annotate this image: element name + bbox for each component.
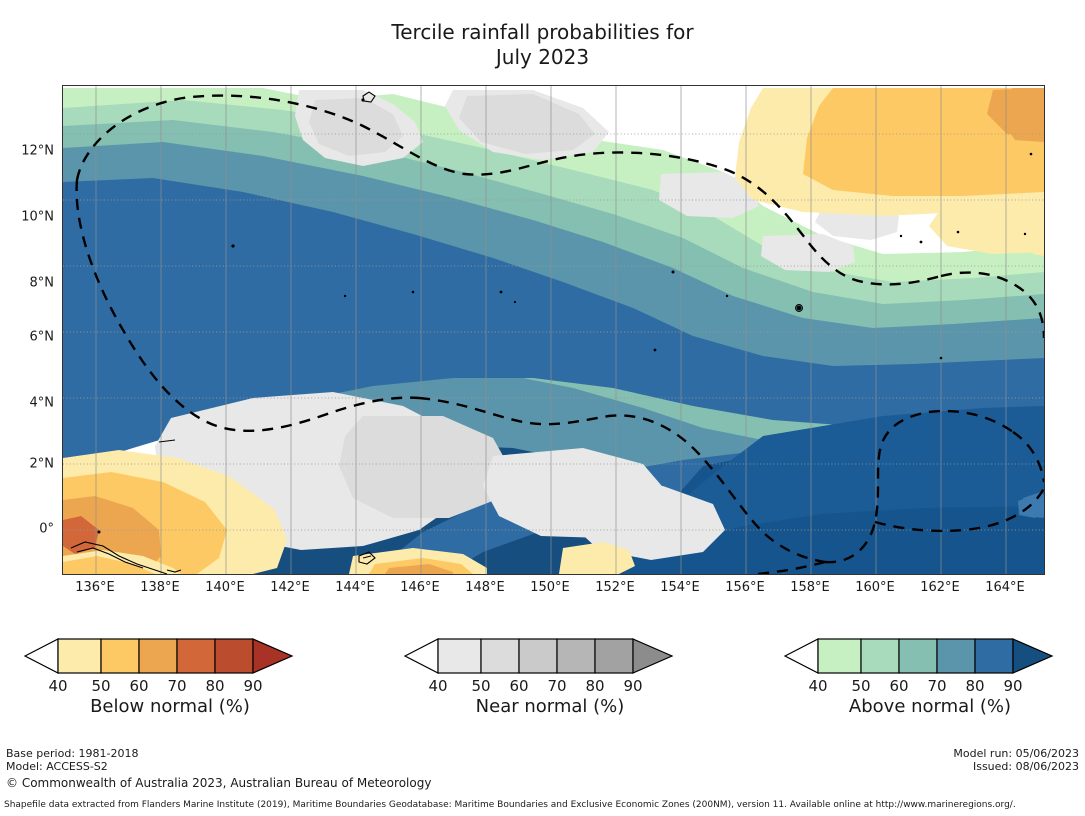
- x-tick-label-142e: 142°E: [270, 580, 310, 595]
- footer-issued: Issued: 08/06/2023: [953, 760, 1079, 773]
- x-tick-label-144e: 144°E: [335, 580, 375, 595]
- cbtick-80: 80: [205, 677, 224, 695]
- colorbar-below-normal-bar: [20, 636, 320, 676]
- footer-right: Model run: 05/06/2023 Issued: 08/06/2023: [953, 747, 1079, 773]
- colorbar-below-normal[interactable]: 40 50 60 70 80 90 Below normal (%): [20, 636, 320, 699]
- footer-model: Model: ACCESS-S2: [6, 760, 138, 773]
- x-tick-label-148e: 148°E: [465, 580, 505, 595]
- colorbar-over-arrow: [1013, 639, 1052, 673]
- colorbar-over-arrow: [253, 639, 292, 673]
- colorbar-below-normal-swatches: [20, 636, 320, 676]
- colorbar-near-normal-title: Near normal (%): [400, 696, 700, 717]
- cbtick-50: 50: [91, 677, 110, 695]
- x-tick-label-138e: 138°E: [140, 580, 180, 595]
- x-tick-label-162e: 162°E: [920, 580, 960, 595]
- map-axes[interactable]: [62, 85, 1045, 575]
- cbtick-40: 40: [808, 677, 827, 695]
- x-tick-label-164e: 164°E: [985, 580, 1025, 595]
- cbtick-70: 70: [927, 677, 946, 695]
- x-tick-label-158e: 158°E: [790, 580, 830, 595]
- footer-model-run: Model run: 05/06/2023: [953, 747, 1079, 760]
- cbtick-90: 90: [1003, 677, 1022, 695]
- cbtick-40: 40: [428, 677, 447, 695]
- footer-shapefile-attribution: Shapefile data extracted from Flanders M…: [4, 800, 1016, 810]
- y-tick-label-12n: 12°N: [0, 144, 54, 159]
- figure-canvas: Tercile rainfall probabilities for July …: [0, 0, 1085, 816]
- cbtick-40: 40: [48, 677, 67, 695]
- colorbar-above-normal-swatches: [780, 636, 1080, 676]
- cbtick-80: 80: [965, 677, 984, 695]
- tercile-probability-contours: [63, 86, 1044, 574]
- colorbar-under-arrow: [785, 639, 818, 673]
- cbtick-60: 60: [129, 677, 148, 695]
- colorbar-near-normal-swatches: [400, 636, 700, 676]
- footer-left: Base period: 1981-2018 Model: ACCESS-S2: [6, 747, 138, 773]
- colorbar-above-normal-bar: [780, 636, 1080, 676]
- colorbar-under-arrow: [25, 639, 58, 673]
- colorbar-above-normal-title: Above normal (%): [780, 696, 1080, 717]
- colorbar-below-normal-title: Below normal (%): [20, 696, 320, 717]
- cbtick-70: 70: [167, 677, 186, 695]
- cbtick-70: 70: [547, 677, 566, 695]
- page-title: Tercile rainfall probabilities for July …: [0, 20, 1085, 70]
- colorbar-under-arrow: [405, 639, 438, 673]
- map-contour-area: [63, 86, 1044, 574]
- cbtick-90: 90: [623, 677, 642, 695]
- cbtick-60: 60: [889, 677, 908, 695]
- footer-base-period: Base period: 1981-2018: [6, 747, 138, 760]
- y-tick-label-0: 0°: [0, 522, 54, 537]
- x-tick-label-160e: 160°E: [855, 580, 895, 595]
- x-tick-label-136e: 136°E: [75, 580, 115, 595]
- colorbar-over-arrow: [633, 639, 672, 673]
- y-tick-label-4n: 4°N: [0, 396, 54, 411]
- y-tick-label-6n: 6°N: [0, 330, 54, 345]
- cbtick-50: 50: [851, 677, 870, 695]
- y-tick-label-2n: 2°N: [0, 457, 54, 472]
- x-tick-label-146e: 146°E: [400, 580, 440, 595]
- y-tick-label-8n: 8°N: [0, 276, 54, 291]
- footer-copyright: © Commonwealth of Australia 2023, Austra…: [6, 776, 431, 790]
- y-tick-label-10n: 10°N: [0, 210, 54, 225]
- cbtick-80: 80: [585, 677, 604, 695]
- colorbar-above-normal[interactable]: 40 50 60 70 80 90 Above normal (%): [780, 636, 1080, 699]
- x-tick-label-152e: 152°E: [595, 580, 635, 595]
- colorbar-near-normal-bar: [400, 636, 700, 676]
- x-tick-label-150e: 150°E: [530, 580, 570, 595]
- x-tick-label-140e: 140°E: [205, 580, 245, 595]
- cbtick-90: 90: [243, 677, 262, 695]
- x-tick-label-154e: 154°E: [660, 580, 700, 595]
- cbtick-50: 50: [471, 677, 490, 695]
- cbtick-60: 60: [509, 677, 528, 695]
- x-tick-label-156e: 156°E: [725, 580, 765, 595]
- colorbar-near-normal[interactable]: 40 50 60 70 80 90 Near normal (%): [400, 636, 700, 699]
